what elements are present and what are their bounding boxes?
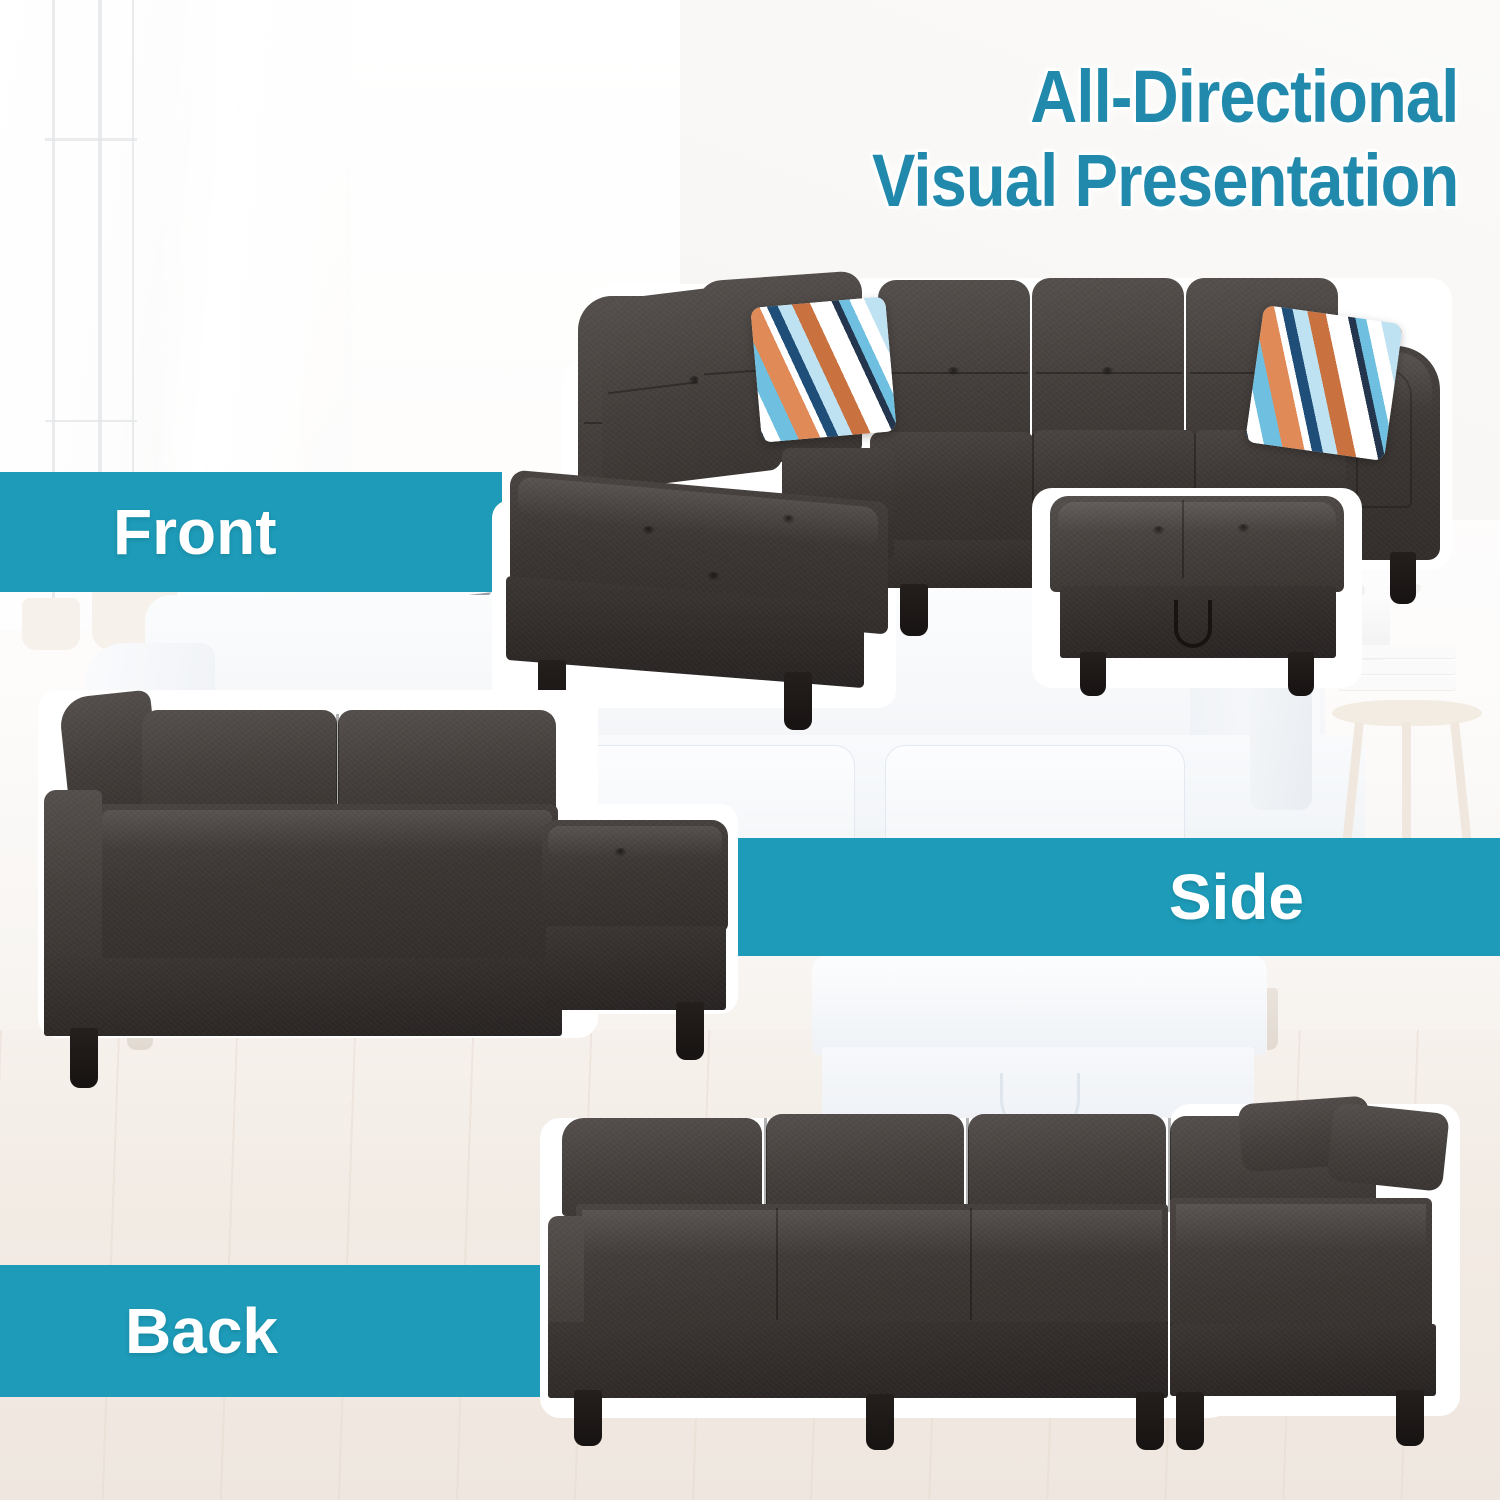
side-view-sectional <box>38 672 738 1062</box>
label-banner-back: Back <box>0 1265 548 1397</box>
ottoman-tuft <box>1152 526 1165 535</box>
label-banner-side: Side <box>700 838 1500 956</box>
banner-label-side: Side <box>1169 860 1304 934</box>
accent-pillow-right <box>1245 305 1403 461</box>
headline: All-Directional Visual Presentation <box>792 62 1458 217</box>
back-view-sectional <box>540 1098 1460 1438</box>
ottoman-pull-strap <box>1174 600 1212 648</box>
product-image-canvas: All-Directional Visual Presentation Fron… <box>0 0 1500 1500</box>
banner-label-front: Front <box>113 495 277 569</box>
storage-ottoman <box>1032 488 1362 688</box>
ottoman-tuft <box>1237 524 1250 533</box>
banner-label-back: Back <box>125 1294 278 1368</box>
accent-pillow-left <box>750 296 896 442</box>
label-banner-front: Front <box>0 472 502 592</box>
background-pot-small <box>22 598 80 650</box>
headline-line-1: All-Directional <box>872 62 1458 132</box>
headline-line-2: Visual Presentation <box>872 146 1458 216</box>
